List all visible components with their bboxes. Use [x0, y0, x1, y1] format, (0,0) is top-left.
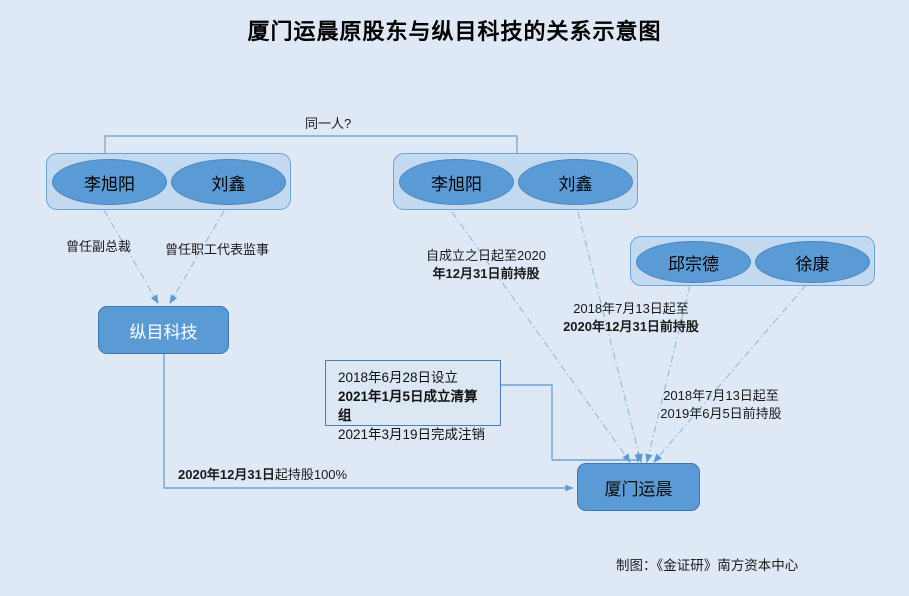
yunchen-timeline-note: 2018年6月28日设立 2021年1月5日成立清算组 2021年3月19日完成… [325, 360, 501, 426]
person-ellipse-lixuyang-left[interactable]: 李旭阳 [52, 159, 167, 205]
page-title: 厦门运晨原股东与纵目科技的关系示意图 [0, 14, 909, 46]
middle-shareholder-group: 李旭阳 刘鑫 [393, 153, 638, 210]
edge-label-2018-to-2019-line1: 2018年7月13日起至 [638, 387, 804, 405]
edge-label-hold-100-percent: 2020年12月31日起持股100% [178, 466, 347, 484]
role-label-employee-supervisor: 曾任职工代表监事 [165, 241, 269, 259]
right-shareholder-group: 邱宗德 徐康 [630, 236, 875, 286]
edge-label-2018-to-2020-line1: 2018年7月13日起至 [546, 300, 716, 318]
edge-label-founding-to-2020-line1: 自成立之日起至2020 [400, 247, 572, 265]
edge-label-founding-to-2020: 自成立之日起至2020 年12月31日前持股 [400, 247, 572, 282]
entity-xiamen-yunchen[interactable]: 厦门运晨 [577, 463, 700, 511]
person-ellipse-lixuyang-middle[interactable]: 李旭阳 [399, 159, 514, 205]
credit-line: 制图：《金证研》南方资本中心 [616, 554, 798, 574]
edge-label-2018-to-2019-line2: 2019年6月5日前持股 [638, 405, 804, 423]
note-line-deregistered: 2021年3月19日完成注销 [338, 425, 490, 444]
connector-layer [0, 0, 909, 596]
diagram-canvas: 厦门运晨原股东与纵目科技的关系示意图 李旭阳 刘鑫 李旭阳 刘鑫 邱宗德 徐康 … [0, 0, 909, 596]
person-ellipse-qiuzongde[interactable]: 邱宗德 [636, 241, 751, 283]
person-ellipse-xukang[interactable]: 徐康 [755, 241, 870, 283]
edge-label-founding-to-2020-line2: 年12月31日前持股 [400, 265, 572, 283]
person-ellipse-liuxin-middle[interactable]: 刘鑫 [518, 159, 633, 205]
edge-label-2018-to-2019: 2018年7月13日起至 2019年6月5日前持股 [638, 387, 804, 422]
left-shareholder-group: 李旭阳 刘鑫 [46, 153, 291, 210]
note-line-established: 2018年6月28日设立 [338, 368, 490, 387]
edge-label-2018-to-2020-line2: 2020年12月31日前持股 [546, 318, 716, 336]
note-line-liquidation: 2021年1月5日成立清算组 [338, 387, 490, 425]
entity-zongmu-technology[interactable]: 纵目科技 [98, 306, 229, 354]
edge-label-2018-to-2020: 2018年7月13日起至 2020年12月31日前持股 [546, 300, 716, 335]
role-label-vice-president: 曾任副总裁 [66, 238, 131, 256]
edge-label-hold-100-percent-rest: 起持股100% [275, 467, 347, 482]
edge-label-hold-100-percent-date: 2020年12月31日 [178, 467, 275, 482]
same-person-label: 同一人? [305, 115, 351, 133]
person-ellipse-liuxin-left[interactable]: 刘鑫 [171, 159, 286, 205]
